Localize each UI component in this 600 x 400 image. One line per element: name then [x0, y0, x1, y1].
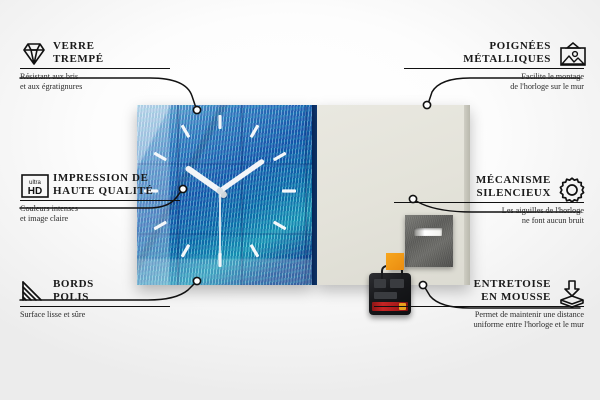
feature-impression-haute-qualite: ultra HD IMPRESSION DE HAUTE QUALITÉ Cou…	[20, 172, 220, 224]
feature-desc: et aux égratignures	[20, 82, 210, 92]
feature-title: TREMPÉ	[53, 53, 104, 66]
feature-desc: Les aiguilles de l'horloge	[354, 206, 584, 216]
feature-title: EN MOUSSE	[474, 291, 551, 304]
feature-title: VERRE	[53, 40, 104, 53]
feature-rule	[374, 306, 584, 307]
clock-hub	[220, 191, 227, 198]
feature-rule	[20, 200, 180, 201]
hanger-slot	[414, 228, 442, 236]
foam-spacer-pad	[386, 253, 404, 270]
ultra-hd-icon: ultra HD	[20, 173, 46, 197]
feature-bords-polis: BORDS POLIS Surface lisse et sûre	[20, 278, 210, 320]
feature-title: MÉTALLIQUES	[463, 53, 551, 66]
feature-rule	[20, 68, 170, 69]
feature-title: POLIS	[53, 291, 94, 304]
feature-title: SILENCIEUX	[476, 187, 551, 200]
feature-title: HAUTE QUALITÉ	[53, 185, 153, 198]
feature-mecanisme-silencieux: MÉCANISME SILENCIEUX Les aiguilles de l'…	[354, 174, 584, 226]
feature-desc: uniforme entre l'horloge et le mur	[334, 320, 584, 330]
feature-rule	[404, 68, 584, 69]
feature-title: IMPRESSION DE	[53, 172, 153, 185]
polished-edge-icon	[20, 279, 46, 303]
infographic-canvas: VERRE TREMPÉ Résistant aux bris et aux é…	[0, 0, 600, 400]
feature-desc: de l'horloge sur le mur	[364, 82, 584, 92]
feature-entretoise-en-mousse: ENTRETOISE EN MOUSSE Permet de maintenir…	[334, 278, 584, 330]
feature-desc: Permet de maintenir une distance	[334, 310, 584, 320]
feature-desc: Facilite le montage	[364, 72, 584, 82]
feature-title: ENTRETOISE	[474, 278, 551, 291]
feature-desc: Surface lisse et sûre	[20, 310, 210, 320]
framed-picture-hook-icon	[558, 41, 584, 65]
feature-title: POIGNÉES	[463, 40, 551, 53]
feature-title: MÉCANISME	[476, 174, 551, 187]
feature-poignees-metalliques: POIGNÉES MÉTALLIQUES Facilite le montage…	[364, 40, 584, 92]
feature-desc: Couleurs intenses	[20, 204, 220, 214]
feature-rule	[20, 306, 170, 307]
feature-desc: ne font aucun bruit	[354, 216, 584, 226]
diamond-icon	[20, 41, 46, 65]
feature-desc: et image claire	[20, 214, 220, 224]
foam-spacer-arrow-icon	[558, 279, 584, 303]
feature-desc: Résistant aux bris	[20, 72, 210, 82]
feature-verre-trempe: VERRE TREMPÉ Résistant aux bris et aux é…	[20, 40, 210, 92]
feature-rule	[394, 202, 584, 203]
svg-text:HD: HD	[28, 186, 42, 197]
gear-icon	[558, 175, 584, 199]
feature-title: BORDS	[53, 278, 94, 291]
